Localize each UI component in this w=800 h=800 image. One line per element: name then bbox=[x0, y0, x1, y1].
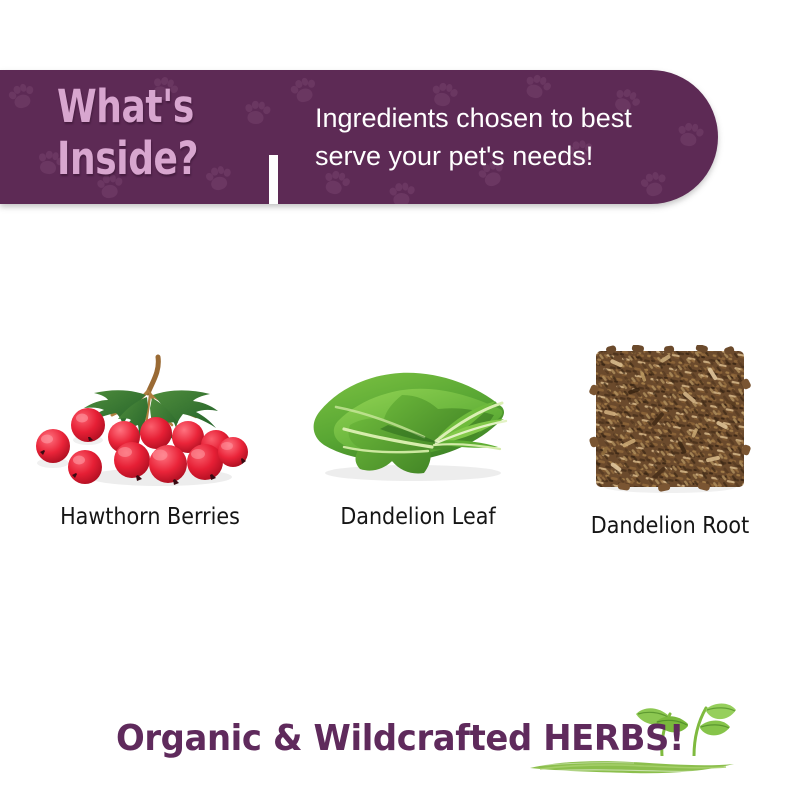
hawthorn-berries-icon bbox=[20, 345, 280, 495]
grass-underline-icon bbox=[526, 756, 738, 776]
banner-headline: What's Inside? bbox=[57, 81, 217, 185]
ingredients-row: Hawthorn Berries bbox=[0, 345, 800, 555]
ingredient-label: Dandelion Leaf bbox=[301, 504, 535, 530]
ingredient-item: Hawthorn Berries bbox=[20, 345, 280, 555]
banner-subtext: Ingredients chosen to best serve your pe… bbox=[315, 99, 715, 175]
dandelion-leaf-icon bbox=[288, 345, 548, 495]
banner-divider bbox=[269, 155, 278, 204]
ingredient-label: Dandelion Root bbox=[553, 513, 787, 539]
whats-inside-banner: What's Inside? Ingredients chosen to bes… bbox=[0, 70, 718, 204]
tagline-text: Organic & Wildcrafted HERBS! bbox=[24, 718, 776, 759]
ingredient-label: Hawthorn Berries bbox=[33, 504, 267, 530]
dandelion-root-icon bbox=[540, 345, 800, 495]
ingredient-item: Dandelion Leaf bbox=[288, 345, 548, 555]
banner-pill-shape: What's Inside? Ingredients chosen to bes… bbox=[0, 70, 718, 204]
ingredient-item: Dandelion Root bbox=[540, 345, 800, 555]
tagline-block: Organic & Wildcrafted HERBS! bbox=[0, 700, 800, 780]
